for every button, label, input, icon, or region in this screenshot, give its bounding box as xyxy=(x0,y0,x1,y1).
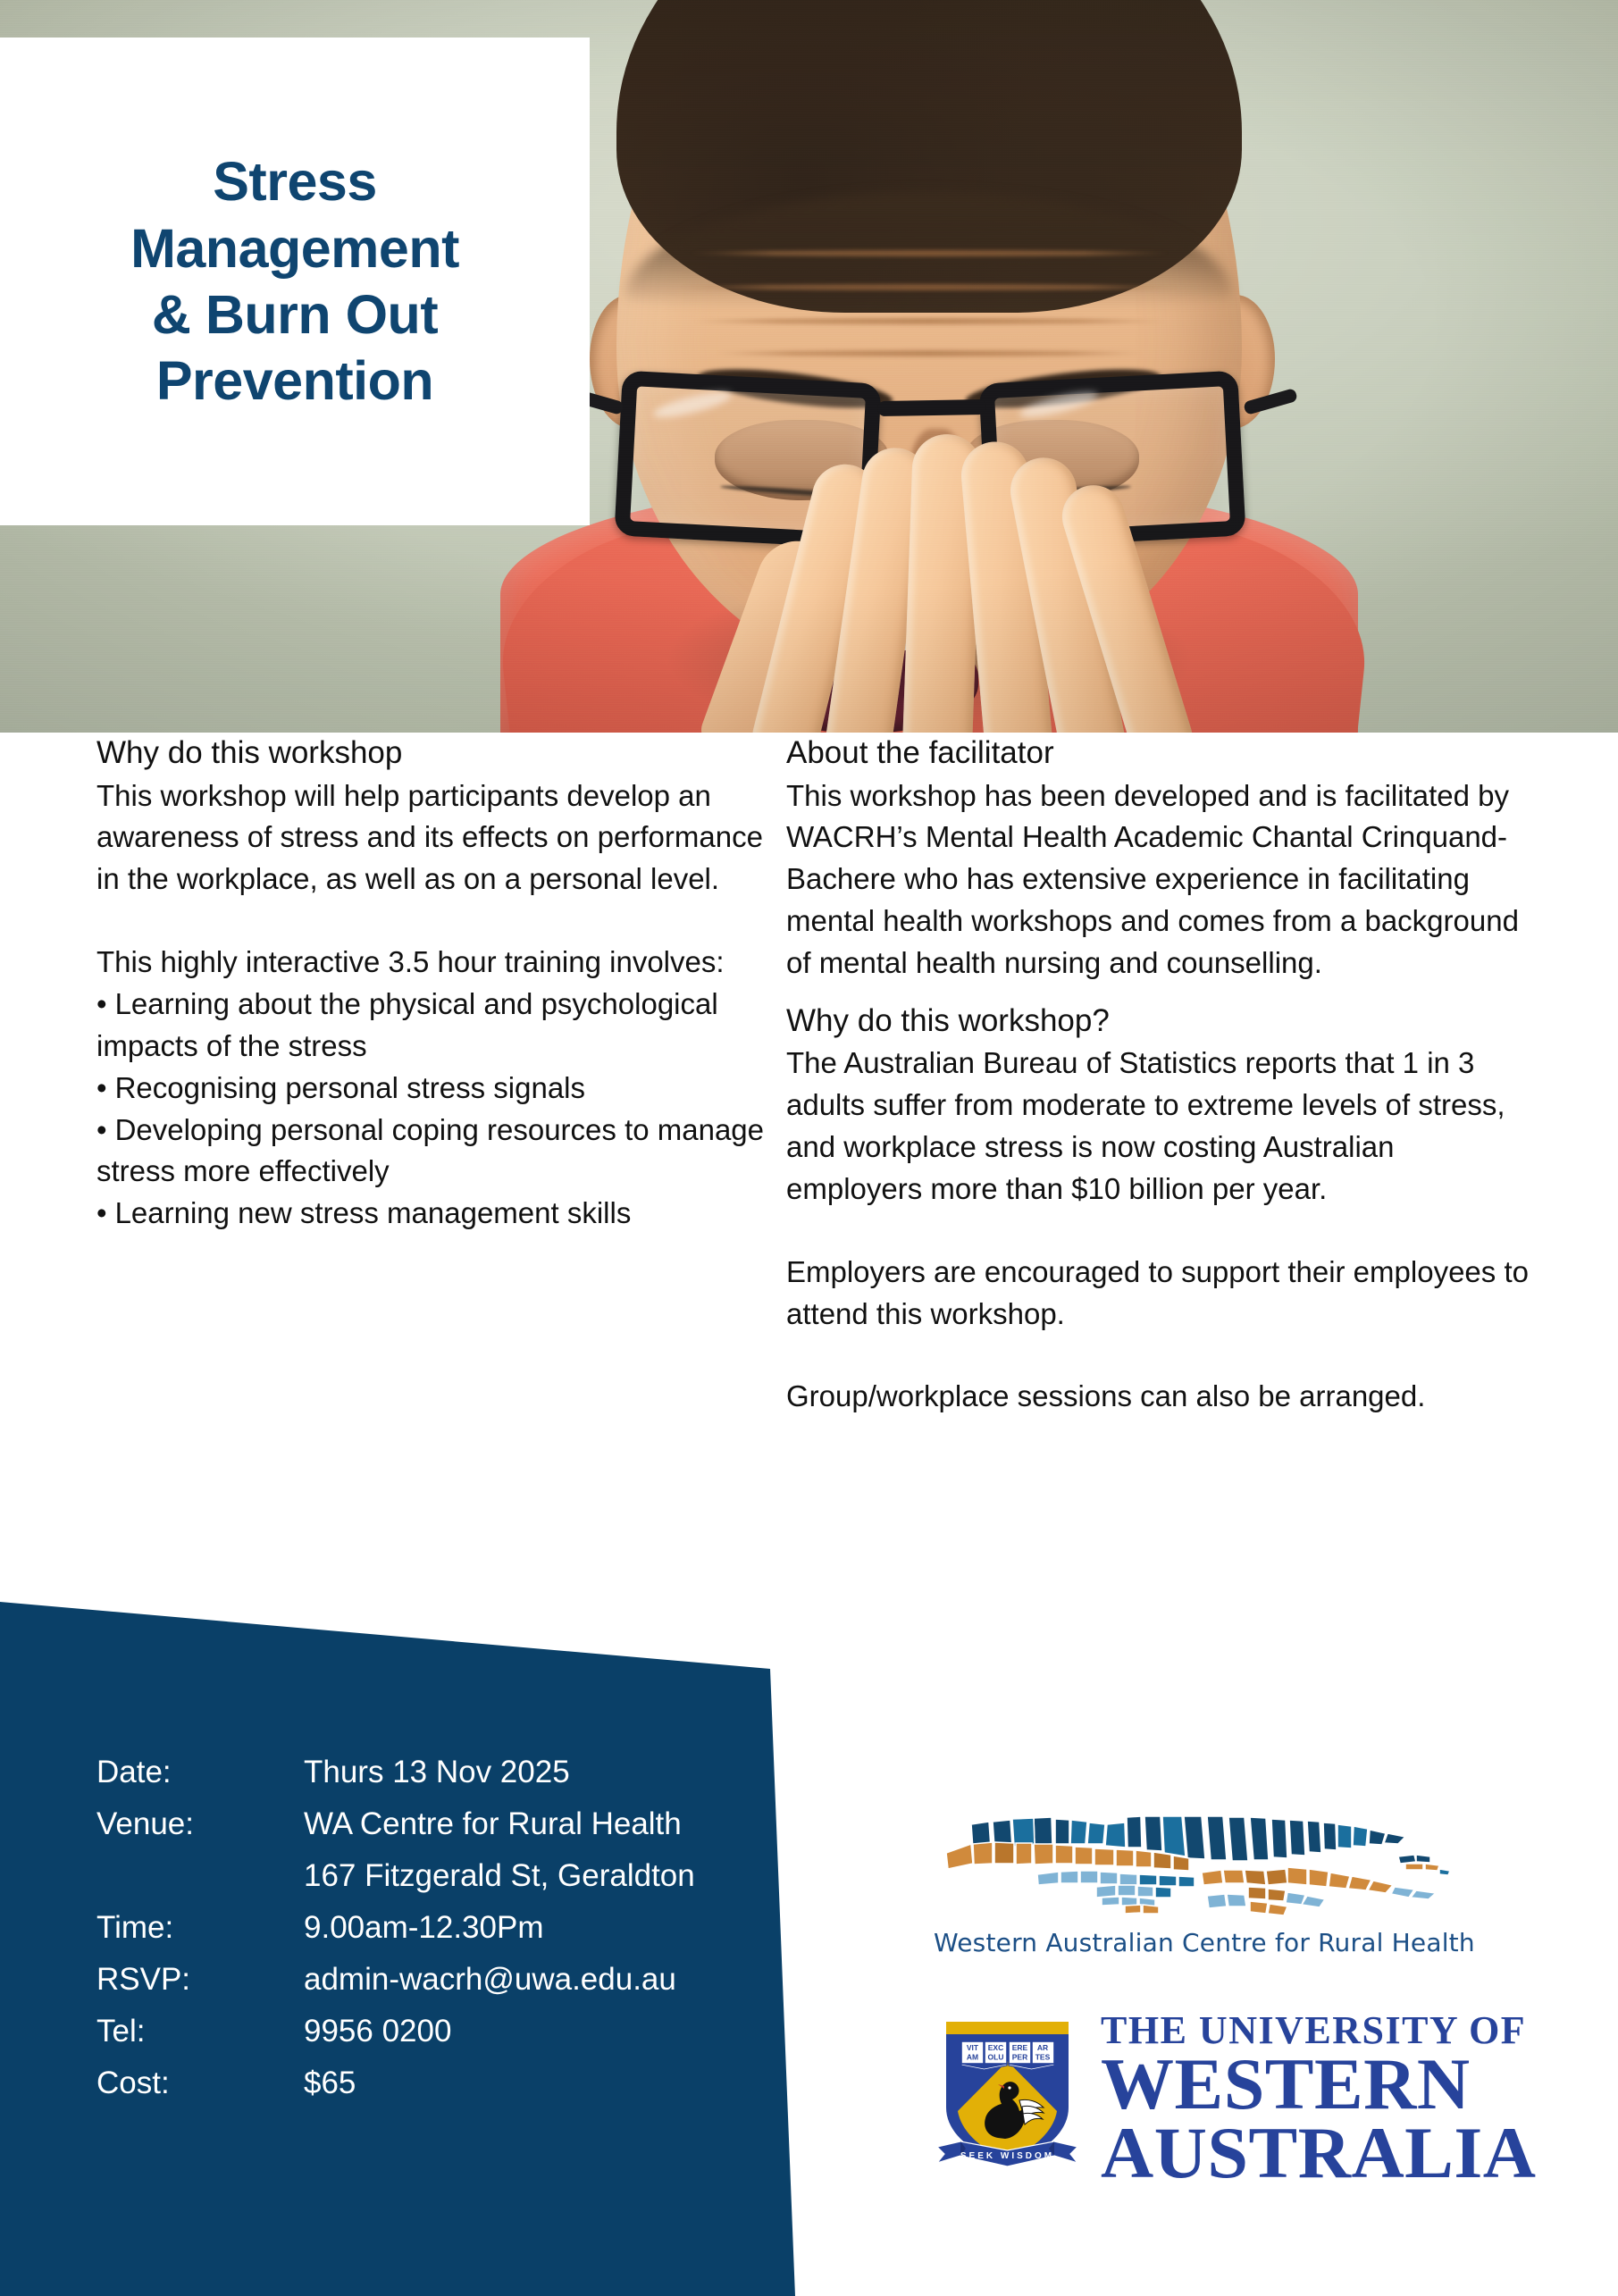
wacrh-logo: Western Australian Centre for Rural Heal… xyxy=(934,1805,1461,1957)
uwa-wordmark-line-3: AUSTRALIA xyxy=(1101,2118,1537,2187)
detail-row-time: Time: 9.00am-12.30Pm xyxy=(96,1909,695,1947)
poster-title-line-2: Management xyxy=(130,215,459,281)
left-column-heading: Why do this workshop xyxy=(96,733,775,774)
detail-value: WA Centre for Rural Health xyxy=(304,1806,682,1843)
rsvp-email-link[interactable]: admin-wacrh@uwa.edu.au xyxy=(304,1961,676,1999)
facilitator-paragraph: This workshop has been developed and is … xyxy=(786,775,1537,985)
detail-value: 167 Fitzgerald St, Geraldton xyxy=(304,1857,695,1895)
uwa-swan-shield-icon: VIT AM EXC OLU ERE PER AR TES xyxy=(934,2015,1081,2184)
wacrh-landscape-mosaic-icon xyxy=(934,1805,1461,1921)
svg-text:VIT: VIT xyxy=(967,2043,979,2052)
paragraph-spacer xyxy=(786,1211,1537,1252)
poster-title-box: Stress Management & Burn Out Prevention xyxy=(0,38,590,525)
left-column-paragraph-1: This workshop will help participants dev… xyxy=(96,775,775,901)
uwa-wordmark: THE UNIVERSITY OF WESTERN AUSTRALIA xyxy=(1101,2012,1537,2187)
detail-label: Date: xyxy=(96,1754,304,1791)
poster-title-line-4: Prevention xyxy=(156,348,433,414)
uwa-wordmark-line-2: WESTERN xyxy=(1101,2049,1537,2118)
workshop-bullet-list: Learning about the physical and psycholo… xyxy=(96,984,775,1235)
svg-text:TES: TES xyxy=(1035,2053,1051,2062)
right-text-column: About the facilitator This workshop has … xyxy=(786,733,1537,1418)
detail-label: Venue: xyxy=(96,1806,304,1843)
svg-text:AM: AM xyxy=(967,2053,978,2062)
detail-row-rsvp[interactable]: RSVP: admin-wacrh@uwa.edu.au xyxy=(96,1961,695,1999)
left-text-column: Why do this workshop This workshop will … xyxy=(96,733,775,1235)
list-item: Learning about the physical and psycholo… xyxy=(96,984,775,1068)
left-column-paragraph-2: This highly interactive 3.5 hour trainin… xyxy=(96,942,775,984)
list-item: Learning new stress management skills xyxy=(96,1193,775,1235)
detail-value: 9956 0200 xyxy=(304,2013,451,2050)
list-item: Developing personal coping resources to … xyxy=(96,1110,775,1194)
detail-value: Thurs 13 Nov 2025 xyxy=(304,1754,570,1791)
poster-title-line-3: & Burn Out xyxy=(152,281,438,348)
svg-text:ERE: ERE xyxy=(1012,2043,1028,2052)
list-item: Recognising personal stress signals xyxy=(96,1068,775,1110)
detail-value: $65 xyxy=(304,2065,356,2102)
event-details-list: Date: Thurs 13 Nov 2025 Venue: WA Centre… xyxy=(96,1754,695,2116)
detail-row-address: 167 Fitzgerald St, Geraldton xyxy=(96,1857,695,1895)
detail-row-cost: Cost: $65 xyxy=(96,2065,695,2102)
paragraph-spacer xyxy=(96,901,775,942)
poster-title-line-1: Stress xyxy=(213,148,377,214)
svg-text:EXC: EXC xyxy=(988,2043,1003,2052)
detail-label: Time: xyxy=(96,1909,304,1947)
statistics-paragraph: The Australian Bureau of Statistics repo… xyxy=(786,1043,1537,1210)
group-sessions-paragraph: Group/workplace sessions can also be arr… xyxy=(786,1376,1537,1418)
detail-row-tel: Tel: 9956 0200 xyxy=(96,2013,695,2050)
paragraph-spacer xyxy=(786,1335,1537,1376)
detail-value: 9.00am-12.30Pm xyxy=(304,1909,543,1947)
detail-row-date: Date: Thurs 13 Nov 2025 xyxy=(96,1754,695,1791)
why-workshop-heading: Why do this workshop? xyxy=(786,1001,1537,1042)
detail-label: Tel: xyxy=(96,2013,304,2050)
wacrh-logo-caption: Western Australian Centre for Rural Heal… xyxy=(934,1928,1461,1957)
svg-text:OLU: OLU xyxy=(988,2053,1004,2062)
uwa-logo: VIT AM EXC OLU ERE PER AR TES xyxy=(934,2010,1488,2189)
uwa-motto-text: SEEK WISDOM xyxy=(960,2151,1054,2161)
detail-row-venue: Venue: WA Centre for Rural Health xyxy=(96,1806,695,1843)
detail-label: RSVP: xyxy=(96,1961,304,1999)
facilitator-heading: About the facilitator xyxy=(786,733,1537,774)
svg-text:AR: AR xyxy=(1037,2043,1048,2052)
svg-text:PER: PER xyxy=(1012,2053,1027,2062)
detail-label: Cost: xyxy=(96,2065,304,2102)
paragraph-spacer xyxy=(786,985,1537,1001)
employers-paragraph: Employers are encouraged to support thei… xyxy=(786,1252,1537,1336)
